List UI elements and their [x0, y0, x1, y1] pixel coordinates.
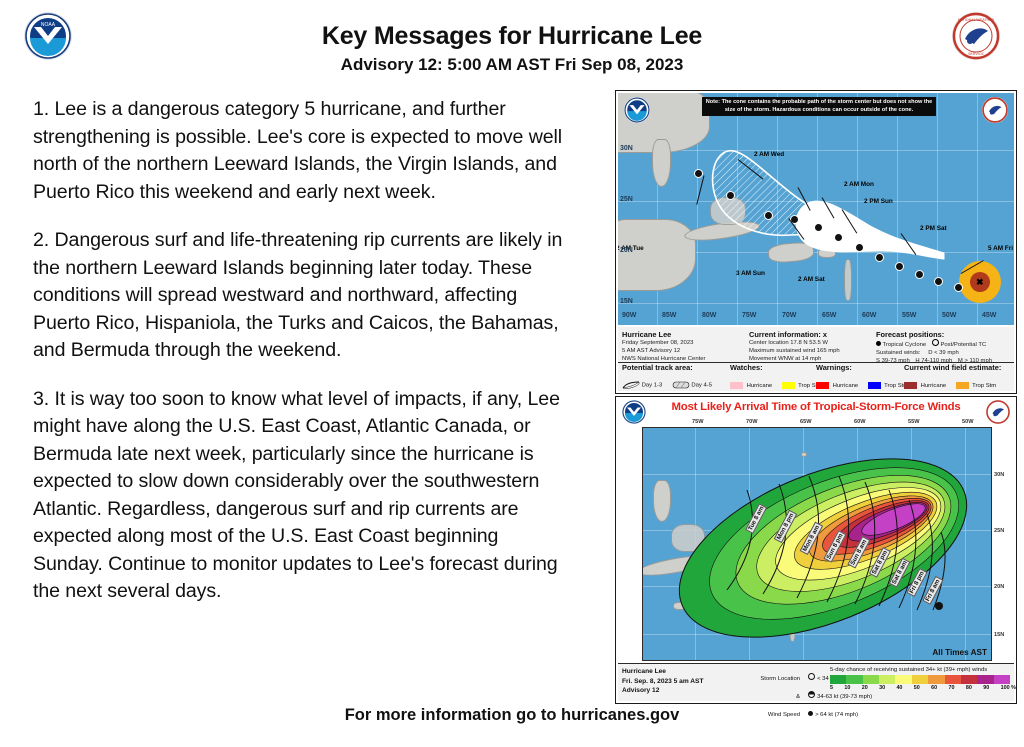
- forecast-label-2am-wed: 2 AM Wed: [754, 151, 784, 158]
- forecast-position-6[interactable]: [834, 233, 843, 242]
- forecast-position-9[interactable]: [764, 211, 773, 220]
- wind-hurricane-swatch-icon: [904, 382, 917, 389]
- wind-hurricane-item: Hurricane: [904, 382, 946, 389]
- colorbar-tick-60: 60: [931, 685, 937, 691]
- cone-lon-label-55w: 55W: [902, 312, 916, 319]
- forecast-position-7[interactable]: [814, 223, 823, 232]
- sustained-winds-label: Sustained winds:: [876, 350, 921, 356]
- key-message-2: 2. Dangerous surf and life-threatening r…: [33, 227, 573, 365]
- land-mexico-yucatan: [618, 219, 696, 291]
- nws-logo-icon: NATIONAL WEATHER SERVICE: [952, 12, 1000, 60]
- arrival-storm-advisory: Advisory 12: [622, 686, 703, 696]
- arr-lon-label-60w: 60W: [854, 419, 866, 425]
- storm-date: Friday September 08, 2023: [622, 339, 705, 347]
- cone-noaa-logo-icon: [624, 97, 650, 123]
- arr-lat-label-15n: 15N: [994, 632, 1004, 638]
- colorbar-tick-30: 30: [879, 685, 885, 691]
- cone-lon-label-45w: 45W: [982, 312, 996, 319]
- cone-lon-label-90w: 90W: [622, 312, 636, 319]
- watch-tropstm-swatch-icon: [782, 382, 795, 389]
- arr-lon-label-50w: 50W: [962, 419, 974, 425]
- land-lesser-antilles: [844, 259, 852, 301]
- arrival-map-canvas[interactable]: Tue 8 am Mon 8 pm Mon 8 am Sun 8 pm Sun …: [642, 427, 992, 661]
- svg-text:NATIONAL WEATHER: NATIONAL WEATHER: [958, 18, 995, 22]
- colorbar-tick-100: 100 %: [1001, 685, 1016, 691]
- forecast-label-2am-sat: 2 AM Sat: [798, 276, 825, 283]
- cone-lat-label-15n: 15N: [620, 298, 633, 305]
- wind-hurricane-label: Hurricane: [921, 383, 947, 389]
- arrival-storm-info-block: Hurricane Lee Fri. Sep. 8, 2023 5 am AST…: [622, 667, 703, 696]
- warn-hurricane-swatch-icon: [816, 382, 829, 389]
- cone-lat-label-25n: 25N: [620, 196, 633, 203]
- arrival-storm-date: Fri. Sep. 8, 2023 5 am AST: [622, 677, 703, 687]
- forecast-label-2pm-sun: 2 PM Sun: [864, 198, 893, 205]
- cone-lon-label-85w: 85W: [662, 312, 676, 319]
- current-information-block: Current information: x Center location 1…: [749, 330, 840, 364]
- colorbar-tick-80: 80: [966, 685, 972, 691]
- tropical-cyclone-symbol-icon: [876, 341, 881, 346]
- colorbar-ticks: 5 10 20 30 40 50 60 70 80 90 100 %: [830, 685, 1016, 691]
- colorbar-heading: 5-day chance of receiving sustained 34+ …: [830, 666, 987, 675]
- watches-heading: Watches:: [730, 363, 827, 372]
- cone-lon-label-65w: 65W: [822, 312, 836, 319]
- page-title: Key Messages for Hurricane Lee: [0, 22, 1024, 51]
- track-area-heading: Potential track area:: [622, 363, 717, 372]
- wind-cat-d: D < 39 mph: [928, 350, 959, 356]
- cone-note-banner: Note: The cone contains the probable pat…: [702, 97, 936, 116]
- page-subtitle: Advisory 12: 5:00 AM AST Fri Sep 08, 202…: [0, 55, 1024, 75]
- cone-lon-label-60w: 60W: [862, 312, 876, 319]
- arrival-legend-panel: Hurricane Lee Fri. Sep. 8, 2023 5 am AST…: [618, 663, 1014, 701]
- forecast-position-1[interactable]: [934, 277, 943, 286]
- svg-text:SERVICE: SERVICE: [968, 52, 984, 56]
- track-day13-item: Day 1-3: [622, 381, 662, 389]
- cone-lon-label-70w: 70W: [782, 312, 796, 319]
- watch-hurricane-item: Hurricane: [730, 382, 772, 389]
- probability-colorbar-block: 5-day chance of receiving sustained 34+ …: [830, 666, 987, 675]
- arrival-storm-center-marker: [935, 602, 943, 610]
- colorbar-tick-20: 20: [862, 685, 868, 691]
- forecast-position-4[interactable]: [875, 253, 884, 262]
- wind-tropstm-label: Trop Stm: [972, 383, 996, 389]
- current-max-wind: Maximum sustained wind 165 mph: [749, 347, 840, 355]
- forecast-position-2[interactable]: [915, 270, 924, 279]
- all-times-note: All Times AST: [932, 648, 987, 657]
- arr-lat-label-30n: 30N: [994, 472, 1004, 478]
- track-day13-label: Day 1-3: [642, 383, 663, 389]
- warn-tropstm-swatch-icon: [868, 382, 881, 389]
- storm-location-label: Storm Location: [738, 675, 800, 684]
- forecast-label-2pm-sat: 2 PM Sat: [920, 225, 947, 232]
- arr-lon-label-75w: 75W: [692, 419, 704, 425]
- forecast-cone-graphic[interactable]: Note: The cone contains the probable pat…: [615, 90, 1017, 394]
- storm-advisory: 5 AM AST Advisory 12: [622, 347, 705, 355]
- storm-info-block: Hurricane Lee Friday September 08, 2023 …: [622, 330, 705, 364]
- cone-lon-label-75w: 75W: [742, 312, 756, 319]
- arrival-time-graphic[interactable]: Most Likely Arrival Time of Tropical-Sto…: [615, 396, 1017, 704]
- arrival-map-title: Most Likely Arrival Time of Tropical-Sto…: [616, 401, 1016, 413]
- key-messages-list: 1. Lee is a dangerous category 5 hurrica…: [33, 96, 573, 627]
- current-info-heading: Current information: x: [749, 330, 840, 339]
- cone-lat-label-30n: 30N: [620, 145, 633, 152]
- arr-lon-label-65w: 65W: [800, 419, 812, 425]
- forecast-position-0[interactable]: [954, 283, 963, 292]
- wind-tropstm-swatch-icon: [956, 382, 969, 389]
- key-message-3: 3. It is way too soon to know what level…: [33, 386, 573, 606]
- key-message-1: 1. Lee is a dangerous category 5 hurrica…: [33, 96, 573, 206]
- land-florida: [652, 139, 671, 187]
- arr-lat-label-25n: 25N: [994, 528, 1004, 534]
- forecast-label-5am-fri: 5 AM Fri: [988, 245, 1013, 252]
- cone-legend-panel: Hurricane Lee Friday September 08, 2023 …: [618, 327, 1014, 391]
- track-day45-label: Day 4-5: [691, 383, 712, 389]
- post-potential-tc-symbol-icon: [932, 339, 939, 346]
- arr-lon-label-55w: 55W: [908, 419, 920, 425]
- cone-day45-swatch-icon: [672, 381, 690, 389]
- forecast-position-11[interactable]: [694, 169, 703, 178]
- arrival-storm-name: Hurricane Lee: [622, 667, 703, 677]
- colorbar-tick-10: 10: [844, 685, 850, 691]
- storm-center-marker: ✖: [976, 278, 984, 287]
- wind-le34-symbol-icon: [808, 673, 815, 680]
- arr-lon-label-70w: 70W: [746, 419, 758, 425]
- watch-hurricane-label: Hurricane: [747, 383, 773, 389]
- tropical-cyclone-label: Tropical Cyclone: [883, 342, 927, 348]
- warnings-heading: Warnings:: [816, 363, 913, 372]
- forecast-position-5[interactable]: [855, 243, 864, 252]
- wind-field-heading: Current wind field estimate:: [904, 363, 1001, 372]
- storm-name: Hurricane Lee: [622, 330, 705, 339]
- colorbar-tick-70: 70: [949, 685, 955, 691]
- forecast-positions-block: Forecast positions: Tropical Cyclone Pos…: [876, 330, 992, 366]
- colorbar-tick-90: 90: [983, 685, 989, 691]
- cone-lat-label-20n: 20N: [620, 247, 633, 254]
- warn-hurricane-item: Hurricane: [816, 382, 858, 389]
- warn-hurricane-label: Hurricane: [833, 383, 859, 389]
- forecast-positions-heading: Forecast positions:: [876, 330, 992, 339]
- colorbar-tick-5: 5: [830, 685, 833, 691]
- watch-hurricane-swatch-icon: [730, 382, 743, 389]
- colorbar-tick-50: 50: [914, 685, 920, 691]
- post-potential-tc-label: Post/Potential TC: [940, 342, 986, 348]
- arr-lat-label-20n: 20N: [994, 584, 1004, 590]
- cone-day13-swatch-icon: [622, 381, 640, 389]
- arrival-nws-logo-icon: [986, 400, 1010, 424]
- forecast-label-2am-mon: 2 AM Mon: [844, 181, 874, 188]
- forecast-position-10[interactable]: [726, 191, 735, 200]
- cone-nws-logo-icon: [982, 97, 1008, 123]
- probability-bands: [643, 428, 991, 660]
- warn-tropstm-item: Trop Stm: [868, 382, 909, 389]
- wind-speed-ampersand: &: [738, 693, 800, 702]
- colorbar-tick-40: 40: [896, 685, 902, 691]
- forecast-position-3[interactable]: [895, 262, 904, 271]
- wind-tropstm-item: Trop Stm: [956, 382, 997, 389]
- forecast-label-3am-sun: 3 AM Sun: [736, 270, 765, 277]
- cone-map-canvas[interactable]: Note: The cone contains the probable pat…: [618, 93, 1014, 325]
- wind-34-63-symbol-icon: [808, 691, 815, 698]
- wind-34-63-label: 34-63 kt (39-73 mph): [817, 694, 872, 700]
- cone-lon-label-80w: 80W: [702, 312, 716, 319]
- current-center-location: Center location 17.8 N 53.5 W: [749, 339, 840, 347]
- cone-lon-label-50w: 50W: [942, 312, 956, 319]
- footer-note: For more information go to hurricanes.go…: [0, 706, 1024, 725]
- track-day45-item: Day 4-5: [672, 381, 712, 389]
- header: NOAA Key Messages for Hurricane Lee Advi…: [0, 0, 1024, 88]
- probability-colorbar: [830, 675, 1010, 684]
